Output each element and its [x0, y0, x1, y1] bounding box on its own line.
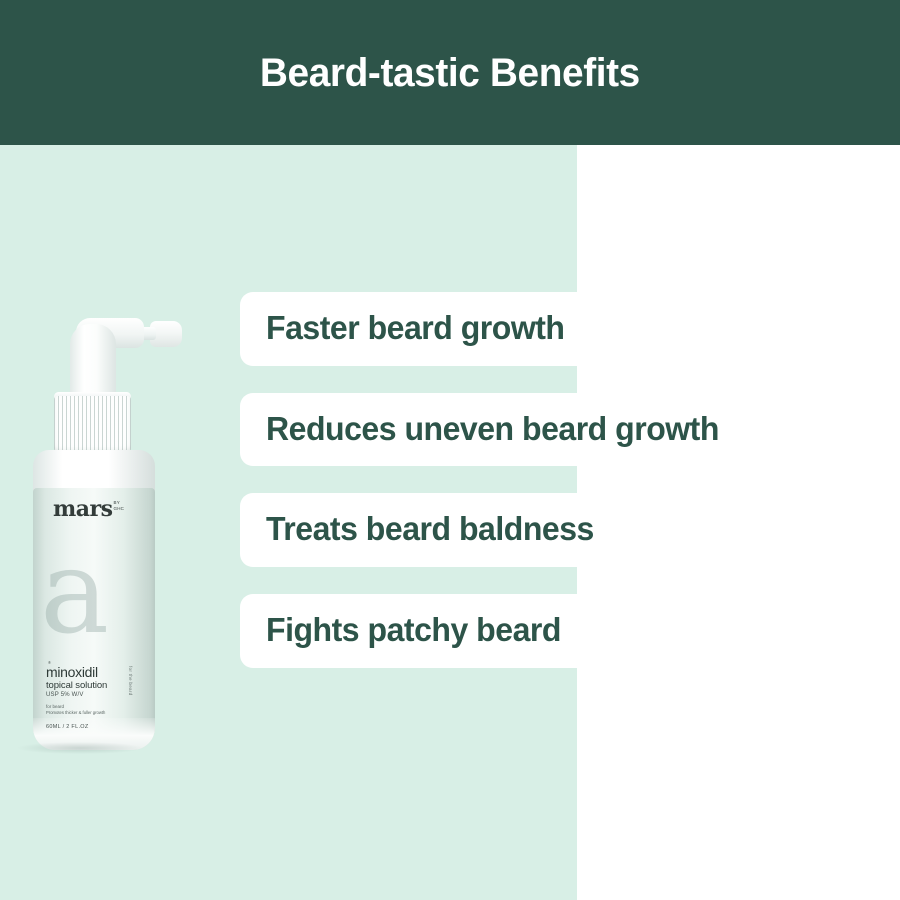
- benefits-list: Faster beard growth Reduces uneven beard…: [240, 292, 900, 695]
- bottle-ribbed-collar: [54, 396, 131, 454]
- product-benefits-poster: Beard-tastic Benefits a mars BY GHC ® mi…: [0, 0, 900, 900]
- product-claim-line: Promotes thicker & fuller growth: [46, 710, 146, 716]
- brand-sub-lines: BY GHC: [114, 500, 125, 511]
- brand-sub-line-2: GHC: [114, 506, 125, 512]
- brand-logo: mars BY GHC: [53, 498, 124, 520]
- bottle-shadow: [18, 742, 142, 754]
- benefit-card-1: Faster beard growth: [240, 292, 600, 366]
- page-title: Beard-tastic Benefits: [260, 53, 640, 93]
- benefit-label-2: Reduces uneven beard growth: [266, 411, 719, 447]
- benefit-label-3: Treats beard baldness: [266, 511, 594, 547]
- brand-name: mars: [53, 498, 113, 520]
- benefit-label-4: Fights patchy beard: [266, 612, 561, 648]
- header-banner: Beard-tastic Benefits: [0, 0, 900, 145]
- bottle-watermark-letter: a: [40, 538, 150, 658]
- benefit-card-3: Treats beard baldness: [240, 493, 630, 567]
- product-bottle-image: a mars BY GHC ® minoxidil topical soluti…: [18, 310, 238, 760]
- benefit-card-2: Reduces uneven beard growth: [240, 393, 759, 467]
- product-volume: 60ML / 2 FL.OZ: [46, 723, 146, 731]
- benefit-card-4: Fights patchy beard: [240, 594, 596, 668]
- benefit-label-1: Faster beard growth: [266, 310, 565, 346]
- bottle-side-text: for the beard: [128, 666, 133, 695]
